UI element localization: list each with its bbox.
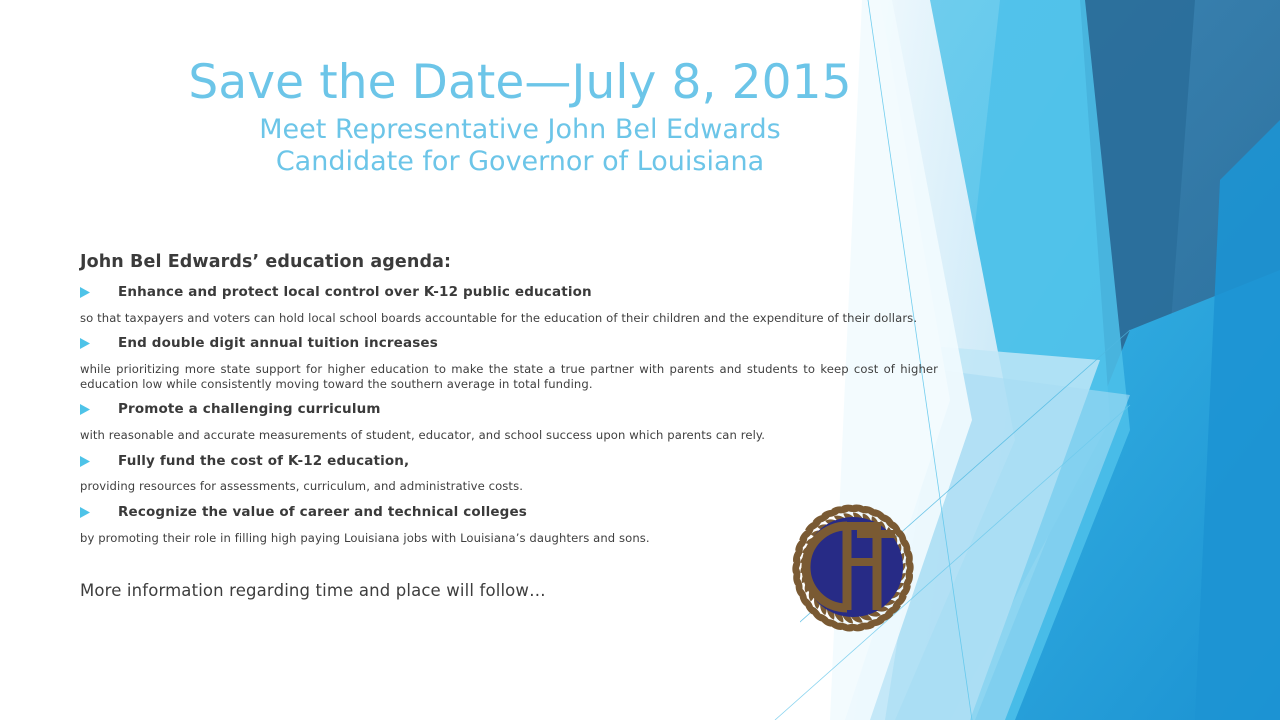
deco-shape-dark-right <box>1020 0 1280 720</box>
subtitle-line-1: Meet Representative John Bel Edwards <box>0 114 1040 146</box>
triangle-bullet-icon <box>80 338 90 349</box>
agenda-bullet-label: Fully fund the cost of K-12 education, <box>118 453 409 470</box>
agenda-detail-text: providing resources for assessments, cur… <box>80 479 938 493</box>
triangle-bullet-icon <box>80 456 90 467</box>
page-title: Save the Date—July 8, 2015 <box>0 58 1040 108</box>
triangle-bullet-icon <box>80 507 90 518</box>
triangle-bullet-icon <box>80 404 90 415</box>
deco-shape-bright-right-edge <box>1195 120 1280 720</box>
agenda-bullet-row: Fully fund the cost of K-12 education, <box>80 453 942 470</box>
subtitle-line-2: Candidate for Governor of Louisiana <box>0 146 1040 178</box>
agenda-bullet-label: End double digit annual tuition increase… <box>118 335 438 352</box>
agenda-bullet-label: Recognize the value of career and techni… <box>118 504 527 521</box>
agenda-heading: John Bel Edwards’ education agenda: <box>80 252 942 272</box>
deco-shape-darkest-wedge <box>1050 0 1195 470</box>
agenda-detail-text: while prioritizing more state support fo… <box>80 362 938 391</box>
agenda-detail-text: with reasonable and accurate measurement… <box>80 428 938 442</box>
agenda-detail-text: so that taxpayers and voters can hold lo… <box>80 311 938 325</box>
agenda-bullet-row: End double digit annual tuition increase… <box>80 335 942 352</box>
agenda-bullet-label: Promote a challenging curriculum <box>118 401 381 418</box>
agenda-bullet-row: Enhance and protect local control over K… <box>80 284 942 301</box>
closing-note-rest: will follow… <box>441 581 546 600</box>
deco-shape-bright-lower <box>975 270 1280 720</box>
title-block: Save the Date—July 8, 2015 Meet Represen… <box>0 58 1040 178</box>
closing-note-emphasis: More information regarding time and plac… <box>80 581 441 600</box>
agenda-bullet-row: Promote a challenging curriculum <box>80 401 942 418</box>
presentation-slide: Save the Date—July 8, 2015 Meet Represen… <box>0 0 1280 720</box>
agenda-bullet-label: Enhance and protect local control over K… <box>118 284 592 301</box>
triangle-bullet-icon <box>80 287 90 298</box>
cft-logo <box>785 500 921 636</box>
